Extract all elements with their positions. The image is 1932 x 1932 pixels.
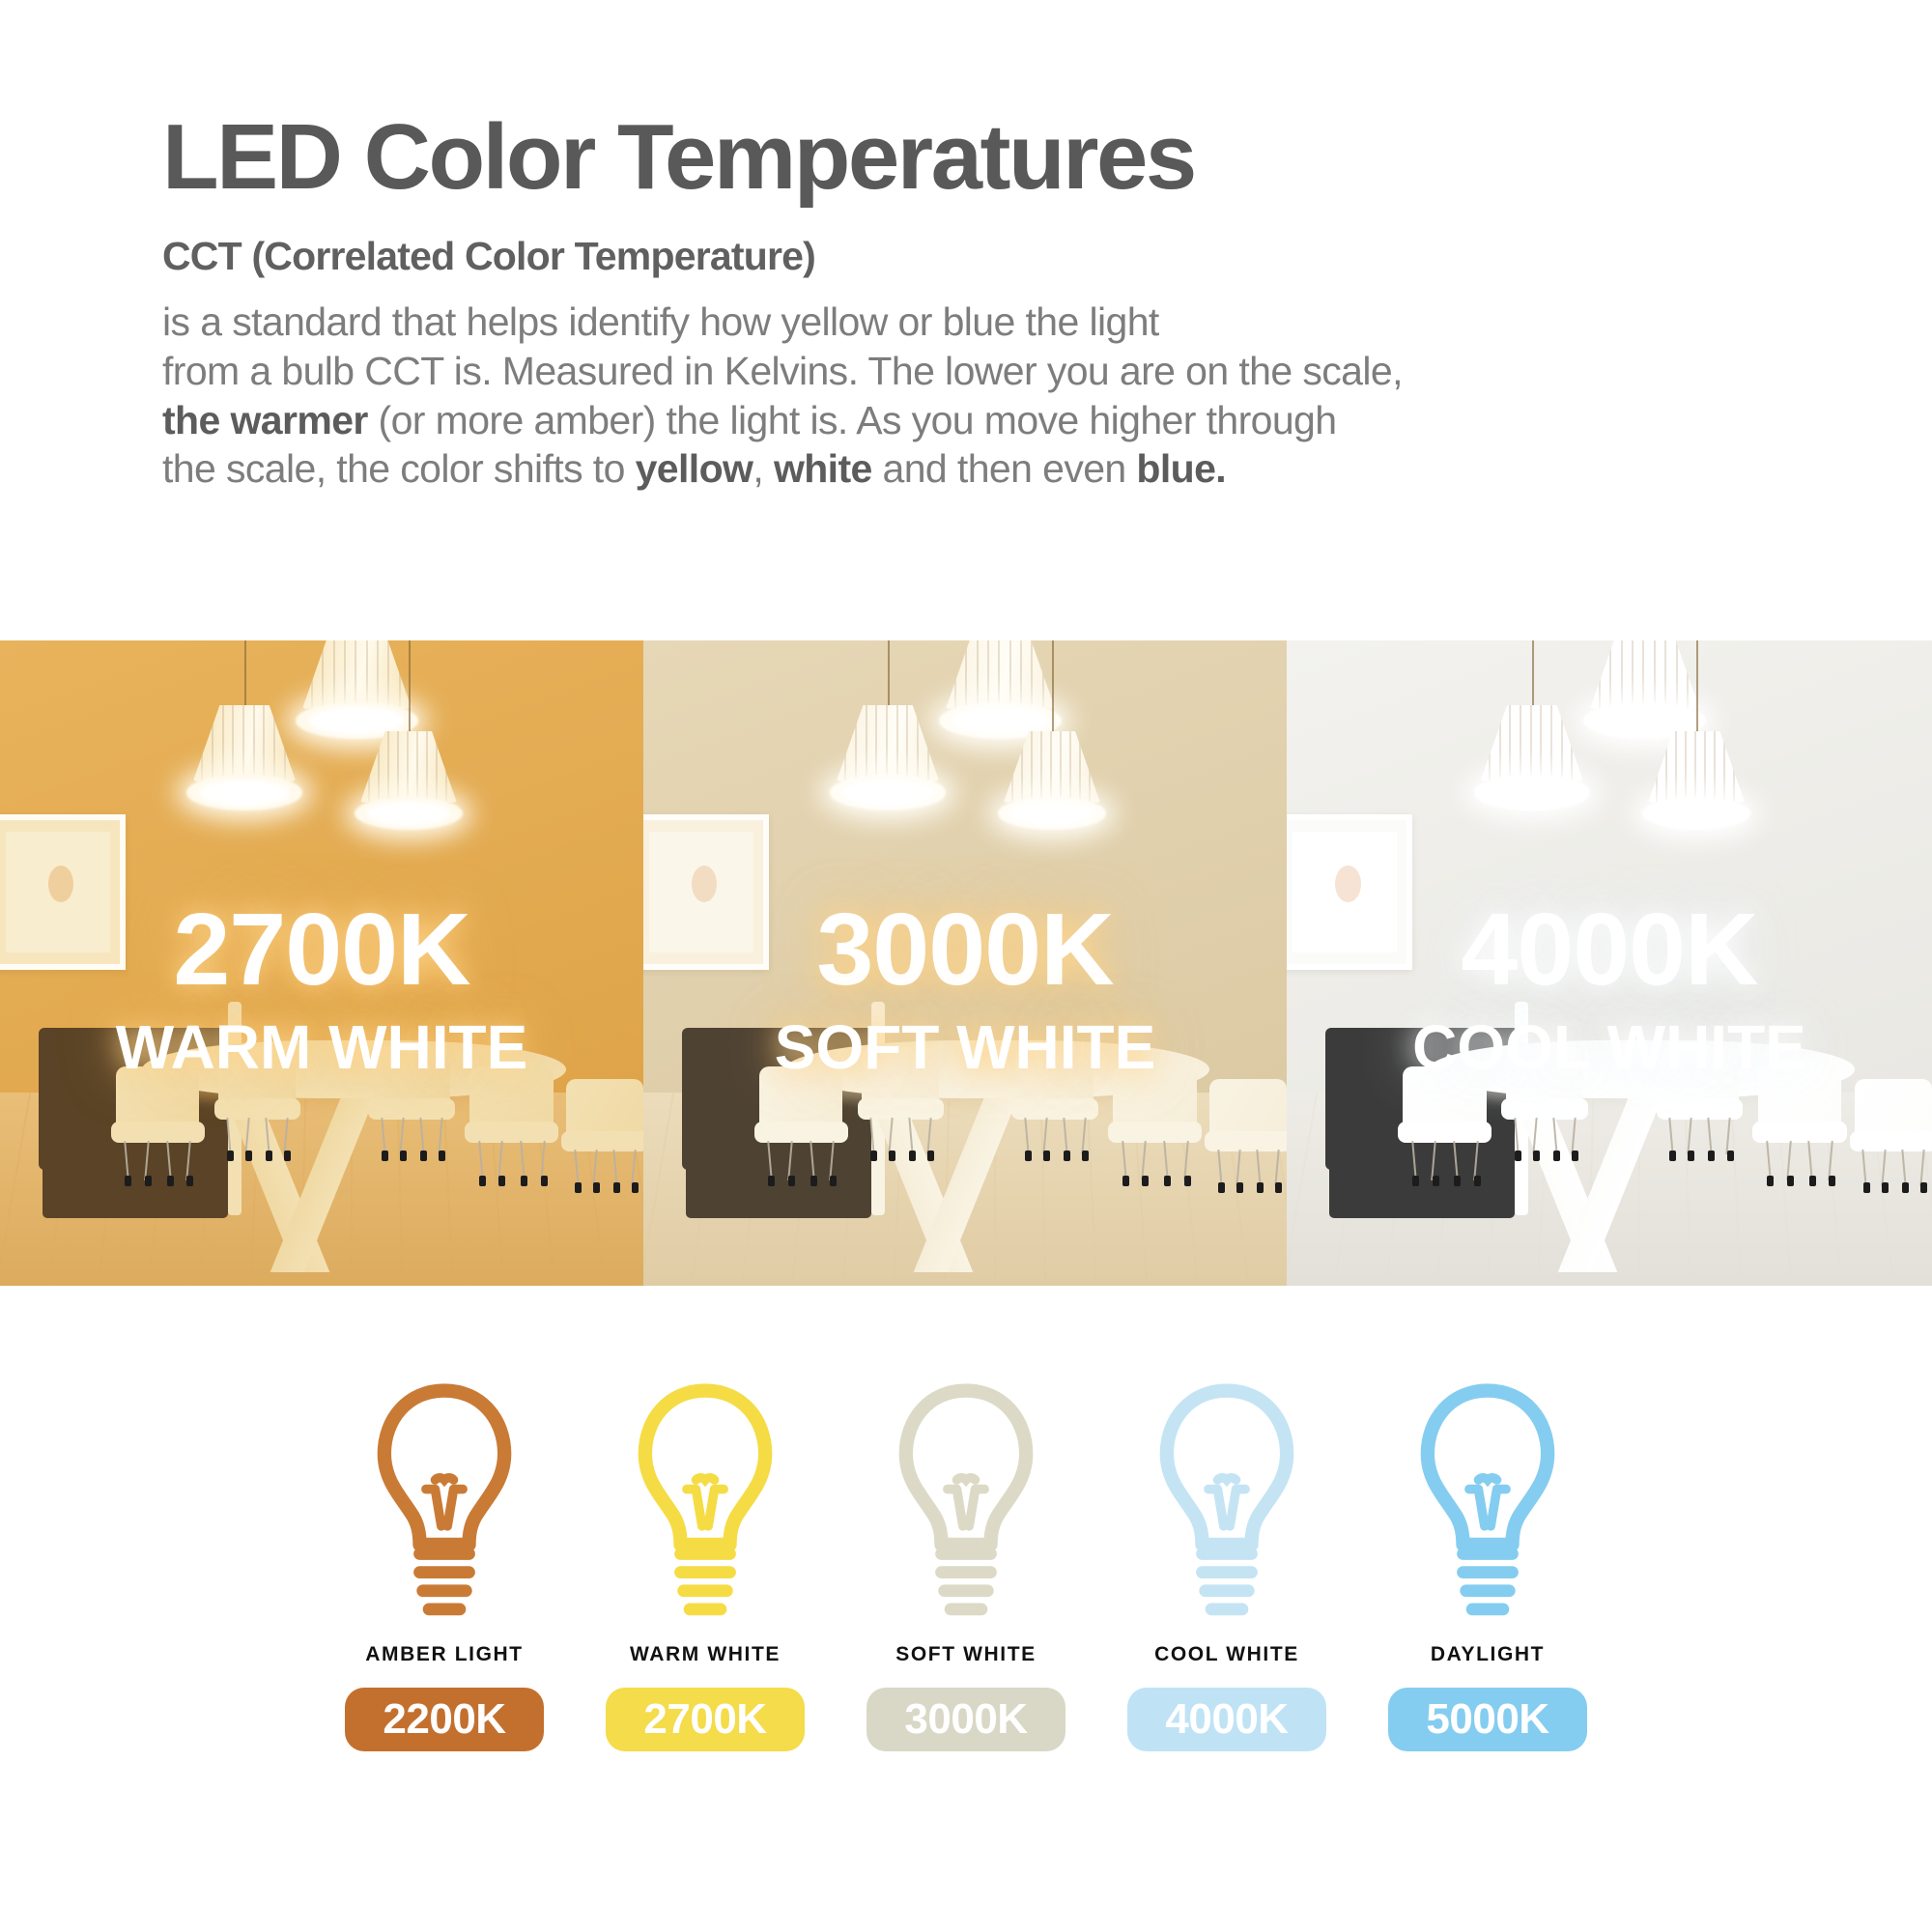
chair-leg xyxy=(1726,1117,1731,1153)
lamp-shade-pleat xyxy=(1050,731,1052,803)
chair-seat xyxy=(754,1122,848,1144)
panel-kelvin-value: 4000K xyxy=(1287,898,1932,1001)
lamp-shade-pleat xyxy=(222,705,224,781)
lamp-shade-pleat xyxy=(886,705,888,781)
chair-leg xyxy=(1786,1141,1792,1180)
lamp-shade-pleat xyxy=(1642,640,1644,709)
bulb-label: SOFT WHITE xyxy=(895,1643,1037,1666)
lamp-shade-pleat xyxy=(1489,705,1491,781)
chair-foot xyxy=(245,1151,252,1161)
lamp-shade-pleat xyxy=(1632,640,1634,709)
chair-leg xyxy=(1024,1117,1029,1153)
chair-leg xyxy=(574,1150,579,1186)
lamp-shade-pleat xyxy=(322,640,324,709)
photo-panel-4000k: 4000K COOL WHITE xyxy=(1287,640,1932,1286)
chair-seat xyxy=(1011,1098,1097,1119)
panel-kelvin-value: 2700K xyxy=(0,898,643,1001)
chair-leg xyxy=(498,1141,504,1180)
chair-foot xyxy=(1882,1182,1889,1193)
lightbulb-icon xyxy=(1410,1381,1565,1628)
chair-leg xyxy=(1552,1117,1557,1153)
pendant-lamp xyxy=(946,640,1055,737)
lightbulb-icon-svg xyxy=(1410,1381,1565,1628)
chair-leg xyxy=(419,1117,424,1153)
subheading: CCT (Correlated Color Temperature) xyxy=(162,237,1932,276)
lamp-shade-pleat xyxy=(1664,640,1666,709)
chair-leg xyxy=(1532,1117,1537,1153)
lamp-cord xyxy=(409,640,411,744)
lamp-shade-pleat xyxy=(344,640,346,709)
bulb-label: AMBER LIGHT xyxy=(365,1643,523,1666)
lamp-shade-pleat xyxy=(399,640,401,709)
comma-sep: , xyxy=(753,446,774,491)
lamp-shade-pleat xyxy=(378,731,380,803)
chair-foot xyxy=(1257,1182,1264,1193)
lamp-shade-pleat xyxy=(987,640,989,709)
lamp-glow-core xyxy=(199,780,290,807)
chair-foot xyxy=(1572,1151,1578,1161)
chair-leg xyxy=(1453,1141,1459,1180)
lamp-shade-pleat xyxy=(1069,731,1071,803)
bulb-legend-item-cool-white: COOL WHITE 4000K xyxy=(1096,1381,1357,1751)
chair-foot xyxy=(1902,1182,1909,1193)
paragraph-line-4: the scale, the color shifts to yellow, w… xyxy=(162,444,1727,494)
chair-foot xyxy=(1767,1176,1774,1186)
chair-foot xyxy=(788,1176,795,1186)
lamp-shade-pleat xyxy=(1540,705,1542,781)
bulb-legend-row: AMBER LIGHT 2200K WARM WHITE 2700K SOFT … xyxy=(0,1381,1932,1751)
lamp-shade-pleat xyxy=(954,640,956,709)
chair-seat xyxy=(858,1098,944,1119)
chair-leg xyxy=(1829,1141,1834,1180)
lamp-shade xyxy=(193,705,297,781)
lamp-shade-pleat xyxy=(1089,731,1091,803)
chair xyxy=(116,1066,200,1177)
chair-leg xyxy=(908,1117,913,1153)
lamp-shade-pleat xyxy=(445,731,447,803)
chair-leg xyxy=(1668,1117,1673,1153)
lamp-shade-pleat xyxy=(1685,731,1687,803)
bulb-legend-item-amber-light: AMBER LIGHT 2200K xyxy=(314,1381,575,1751)
lamp-shade-pleat xyxy=(1694,731,1696,803)
lamp-shade-pleat xyxy=(387,640,389,709)
lamp-shade-pleat xyxy=(387,731,389,803)
chair-foot xyxy=(1184,1176,1191,1186)
chair-seat xyxy=(1108,1122,1202,1144)
chair-leg xyxy=(889,1117,894,1153)
chair-leg xyxy=(124,1141,129,1180)
chair-foot xyxy=(1412,1176,1419,1186)
chair-leg xyxy=(1432,1141,1437,1180)
chair-leg xyxy=(478,1141,484,1180)
chair-foot xyxy=(1669,1151,1676,1161)
lamp-shade-pleat xyxy=(1676,640,1678,709)
lamp-shade-pleat xyxy=(1656,731,1658,803)
lamp-cord xyxy=(1696,640,1698,744)
paragraph-line-1: is a standard that helps identify how ye… xyxy=(162,298,1727,347)
lamp-shade-pleat xyxy=(927,705,929,781)
chair-leg xyxy=(1081,1117,1086,1153)
chair-leg xyxy=(830,1141,836,1180)
lamp-shade-pleat xyxy=(1571,705,1573,781)
chair-leg xyxy=(869,1117,874,1153)
lamp-shade-pleat xyxy=(1009,640,1011,709)
lightbulb-icon-svg xyxy=(628,1381,782,1628)
lightbulb-icon xyxy=(367,1381,522,1628)
kelvin-pill[interactable]: 3000K xyxy=(867,1688,1065,1751)
chair-foot xyxy=(830,1176,837,1186)
lamp-shade-pleat xyxy=(1654,640,1656,709)
chair xyxy=(1855,1079,1932,1182)
lamp-shade-pleat xyxy=(284,705,286,781)
chair-seat xyxy=(1501,1098,1588,1119)
chair-leg xyxy=(144,1141,150,1180)
chair-leg xyxy=(1142,1141,1148,1180)
chair-foot xyxy=(1064,1151,1070,1161)
lightbulb-icon-svg xyxy=(367,1381,522,1628)
lamp-shade-pleat xyxy=(273,705,275,781)
lamp-shade-pleat xyxy=(397,731,399,803)
panel-name-label: SOFT WHITE xyxy=(643,1016,1287,1078)
pendant-lamp xyxy=(1648,731,1745,828)
chair-leg xyxy=(1411,1141,1417,1180)
chair-seat xyxy=(1657,1098,1744,1119)
lightbulb-icon xyxy=(628,1381,782,1628)
paragraph-line-4-lead: the scale, the color shifts to xyxy=(162,446,636,491)
chair-foot xyxy=(1433,1176,1439,1186)
chair-foot xyxy=(1920,1182,1927,1193)
chair-leg xyxy=(186,1141,192,1180)
lamp-shade-pleat xyxy=(436,731,438,803)
lamp-shade-pleat xyxy=(377,640,379,709)
kelvin-pill[interactable]: 5000K xyxy=(1388,1688,1587,1751)
chair-foot xyxy=(284,1151,291,1161)
chair-foot xyxy=(1275,1182,1282,1193)
chair-foot xyxy=(1142,1176,1149,1186)
lamp-shade-pleat xyxy=(906,705,908,781)
bulb-label: COOL WHITE xyxy=(1154,1643,1299,1666)
lamp-glow-core xyxy=(1487,780,1577,807)
panel-kelvin-value: 3000K xyxy=(643,898,1287,1001)
panel-overlay-4000k: 4000K COOL WHITE xyxy=(1287,898,1932,1078)
pendant-lamp xyxy=(837,705,940,809)
chair-leg xyxy=(767,1141,773,1180)
lamp-shade-pleat xyxy=(253,705,255,781)
chair-foot xyxy=(889,1151,895,1161)
lamp-shade-pleat xyxy=(311,640,313,709)
color-temperature-photo-strip: 2700K WARM WHITE 3000 xyxy=(0,640,1932,1286)
chair-foot xyxy=(1474,1176,1481,1186)
floor-board xyxy=(643,1093,675,1286)
chair-leg xyxy=(283,1117,288,1153)
pendant-lamp xyxy=(193,705,297,809)
bold-yellow: yellow xyxy=(636,446,753,491)
lamp-shade xyxy=(1590,640,1700,709)
chair-foot xyxy=(632,1182,639,1193)
chair-back xyxy=(1855,1079,1932,1135)
lamp-shade-pleat xyxy=(333,640,335,709)
bulb-label: DAYLIGHT xyxy=(1431,1643,1545,1666)
baby-head xyxy=(1335,866,1361,903)
chair-foot xyxy=(1515,1151,1521,1161)
chair-foot xyxy=(439,1151,445,1161)
chair-foot xyxy=(575,1182,582,1193)
chair-foot xyxy=(498,1176,505,1186)
bulb-label: WARM WHITE xyxy=(630,1643,781,1666)
lamp-glow-core xyxy=(842,780,933,807)
chair-leg xyxy=(1274,1150,1279,1186)
chair-foot xyxy=(1236,1182,1243,1193)
chair-leg xyxy=(1473,1141,1479,1180)
chair-seat xyxy=(465,1122,558,1144)
bulb-legend-item-warm-white: WARM WHITE 2700K xyxy=(575,1381,836,1751)
lamp-shade xyxy=(837,705,940,781)
lightbulb-icon xyxy=(1150,1381,1304,1628)
photo-panel-3000k: 3000K SOFT WHITE xyxy=(643,640,1287,1286)
chair xyxy=(1403,1066,1487,1177)
lamp-shade-pleat xyxy=(1040,731,1042,803)
lamp-shade-pleat xyxy=(896,705,898,781)
chair-leg xyxy=(1163,1141,1169,1180)
chair xyxy=(1209,1079,1287,1182)
lamp-glow-core xyxy=(1009,801,1094,826)
chair-back xyxy=(566,1079,643,1135)
chair-foot xyxy=(909,1151,916,1161)
lamp-shade xyxy=(1004,731,1100,803)
chair-leg xyxy=(1122,1141,1127,1180)
lamp-shade-pleat xyxy=(998,640,1000,709)
chair-leg xyxy=(787,1141,793,1180)
chair-leg xyxy=(265,1117,270,1153)
chair-foot xyxy=(810,1176,817,1186)
floor-board xyxy=(1287,1093,1319,1286)
lamp-shade-pleat xyxy=(1621,640,1623,709)
chair-foot xyxy=(1708,1151,1715,1161)
chair-foot xyxy=(1533,1151,1540,1161)
kelvin-pill[interactable]: 2700K xyxy=(606,1688,805,1751)
paragraph-line-3: the warmer (or more amber) the light is.… xyxy=(162,396,1727,445)
lightbulb-icon xyxy=(889,1381,1043,1628)
chair-seat xyxy=(1398,1122,1492,1144)
panel-name-label: COOL WHITE xyxy=(1287,1016,1932,1078)
chair-foot xyxy=(420,1151,427,1161)
lamp-glow-core xyxy=(1654,801,1739,826)
bulb-legend-item-daylight: DAYLIGHT 5000K xyxy=(1357,1381,1618,1751)
chair xyxy=(566,1079,643,1182)
chair-leg xyxy=(1217,1150,1222,1186)
kelvin-pill[interactable]: 2200K xyxy=(345,1688,544,1751)
pendant-lamp xyxy=(1590,640,1700,737)
chair-leg xyxy=(1514,1117,1519,1153)
lightbulb-icon-svg xyxy=(889,1381,1043,1628)
chair-foot xyxy=(1454,1176,1461,1186)
panel-overlay-3000k: 3000K SOFT WHITE xyxy=(643,898,1287,1078)
lamp-shade-pleat xyxy=(201,705,203,781)
lamp-shade-pleat xyxy=(212,705,213,781)
chair-leg xyxy=(1183,1141,1189,1180)
chair-leg xyxy=(1571,1117,1576,1153)
lamp-shade-pleat xyxy=(917,705,919,781)
lamp-shade-pleat xyxy=(426,731,428,803)
chair-foot xyxy=(927,1151,934,1161)
chair-foot xyxy=(1863,1182,1870,1193)
chair-leg xyxy=(1881,1150,1886,1186)
pendant-lamp xyxy=(1004,731,1100,828)
lamp-shade xyxy=(302,640,412,709)
chair-seat xyxy=(111,1122,205,1144)
chair-foot xyxy=(400,1151,407,1161)
chair-foot xyxy=(1218,1182,1225,1193)
chair-foot xyxy=(1688,1151,1694,1161)
chair-leg xyxy=(166,1141,172,1180)
lamp-shade-pleat xyxy=(355,640,356,709)
chair-foot xyxy=(145,1176,152,1186)
chair-foot xyxy=(1553,1151,1560,1161)
panel-overlay-2700k: 2700K WARM WHITE xyxy=(0,898,643,1078)
lamp-shade-pleat xyxy=(416,731,418,803)
chair-leg xyxy=(438,1117,442,1153)
lamp-shade-pleat xyxy=(866,705,867,781)
bold-white: white xyxy=(774,446,872,491)
chair-leg xyxy=(1919,1150,1924,1186)
photo-panel-2700k: 2700K WARM WHITE xyxy=(0,640,643,1286)
chair-foot xyxy=(479,1176,486,1186)
chair-leg xyxy=(226,1117,231,1153)
chair-foot xyxy=(125,1176,131,1186)
lamp-shade-pleat xyxy=(855,705,857,781)
chair-foot xyxy=(1025,1151,1032,1161)
chair-foot xyxy=(382,1151,388,1161)
chair xyxy=(1113,1066,1197,1177)
chair-foot xyxy=(870,1151,877,1161)
lamp-shade-pleat xyxy=(1675,731,1677,803)
bulb-legend-item-soft-white: SOFT WHITE 3000K xyxy=(836,1381,1096,1751)
chair-leg xyxy=(612,1150,617,1186)
chair-seat xyxy=(1850,1131,1932,1151)
lamp-shade xyxy=(360,731,457,803)
chair-leg xyxy=(1808,1141,1814,1180)
chair-foot xyxy=(227,1151,234,1161)
chair-leg xyxy=(381,1117,385,1153)
lamp-shade-pleat xyxy=(1530,705,1532,781)
lamp-shade-pleat xyxy=(1687,640,1689,709)
lamp-cord xyxy=(1052,640,1054,744)
paragraph-line-3-rest: (or more amber) the light is. As you mov… xyxy=(368,398,1337,442)
chair-foot xyxy=(1043,1151,1050,1161)
chair-leg xyxy=(1707,1117,1712,1153)
chair-leg xyxy=(399,1117,404,1153)
lamp-shade-pleat xyxy=(1665,731,1667,803)
lamp-shade-pleat xyxy=(875,705,877,781)
chair-leg xyxy=(810,1141,815,1180)
chair-leg xyxy=(1901,1150,1906,1186)
chair-foot xyxy=(768,1176,775,1186)
chair-leg xyxy=(1236,1150,1240,1186)
pendant-lamp xyxy=(302,640,412,737)
lamp-shade-pleat xyxy=(232,705,234,781)
lamp-shade-pleat xyxy=(1561,705,1563,781)
chair-leg xyxy=(520,1141,526,1180)
lamp-shade-pleat xyxy=(1509,705,1511,781)
chair-foot xyxy=(1164,1176,1171,1186)
lamp-shade-pleat xyxy=(1550,705,1552,781)
chair-seat xyxy=(1205,1131,1287,1151)
lamp-shade-pleat xyxy=(1079,731,1081,803)
lamp-shade-pleat xyxy=(1031,640,1033,709)
chair-back xyxy=(1209,1079,1287,1135)
lamp-shade-pleat xyxy=(1060,731,1062,803)
page-title: LED Color Temperatures xyxy=(162,111,1932,204)
chair-foot xyxy=(167,1176,174,1186)
lamp-shade-pleat xyxy=(407,731,409,803)
lamp-shade-pleat xyxy=(1609,640,1611,709)
chair-foot xyxy=(1829,1176,1835,1186)
panel-name-label: WARM WHITE xyxy=(0,1016,643,1078)
chair-foot xyxy=(593,1182,600,1193)
lamp-shade xyxy=(1648,731,1745,803)
lamp-shade-pleat xyxy=(366,640,368,709)
lamp-shade-pleat xyxy=(1020,640,1022,709)
paragraph-line-2: from a bulb CCT is. Measured in Kelvins.… xyxy=(162,347,1727,396)
lamp-shade-pleat xyxy=(1499,705,1501,781)
pendant-lamp xyxy=(1480,705,1583,809)
chair-seat xyxy=(561,1131,643,1151)
chair-foot xyxy=(613,1182,620,1193)
kelvin-pill[interactable]: 4000K xyxy=(1127,1688,1326,1751)
lamp-shade-pleat xyxy=(1723,731,1725,803)
chair-leg xyxy=(1042,1117,1047,1153)
header: LED Color Temperatures CCT (Correlated C… xyxy=(0,0,1932,494)
chair-foot xyxy=(1082,1151,1089,1161)
lamp-shade-pleat xyxy=(965,640,967,709)
lamp-shade-pleat xyxy=(1714,731,1716,803)
lamp-shade-pleat xyxy=(1520,705,1521,781)
chair-leg xyxy=(1688,1117,1692,1153)
lamp-shade-pleat xyxy=(242,705,244,781)
lamp-shade-pleat xyxy=(844,705,846,781)
chair-foot xyxy=(1787,1176,1794,1186)
chair-seat xyxy=(214,1098,300,1119)
chair-leg xyxy=(926,1117,931,1153)
lamp-glow-core xyxy=(366,801,451,826)
chair xyxy=(469,1066,554,1177)
lamp-shade-pleat xyxy=(1011,731,1013,803)
chair-foot xyxy=(1122,1176,1129,1186)
chair-seat xyxy=(1752,1122,1846,1144)
lamp-shade-pleat xyxy=(368,731,370,803)
chair xyxy=(1758,1066,1842,1177)
chair-leg xyxy=(540,1141,546,1180)
lamp-shade-pleat xyxy=(1733,731,1735,803)
lightbulb-icon-svg xyxy=(1150,1381,1304,1628)
chair-foot xyxy=(266,1151,272,1161)
chair-leg xyxy=(1862,1150,1867,1186)
chair-leg xyxy=(1063,1117,1067,1153)
chair-foot xyxy=(521,1176,527,1186)
lamp-shade-pleat xyxy=(263,705,265,781)
lamp-shade-pleat xyxy=(1704,731,1706,803)
floor-board xyxy=(0,1093,32,1286)
pendant-lamp xyxy=(360,731,457,828)
paragraph-line-4-mid: and then even xyxy=(872,446,1137,491)
lamp-shade-pleat xyxy=(977,640,979,709)
chair-foot xyxy=(1809,1176,1816,1186)
lamp-shade-pleat xyxy=(1042,640,1044,709)
lamp-shade-pleat xyxy=(1031,731,1033,803)
chair-foot xyxy=(186,1176,193,1186)
chair xyxy=(759,1066,843,1177)
chair-leg xyxy=(1256,1150,1261,1186)
